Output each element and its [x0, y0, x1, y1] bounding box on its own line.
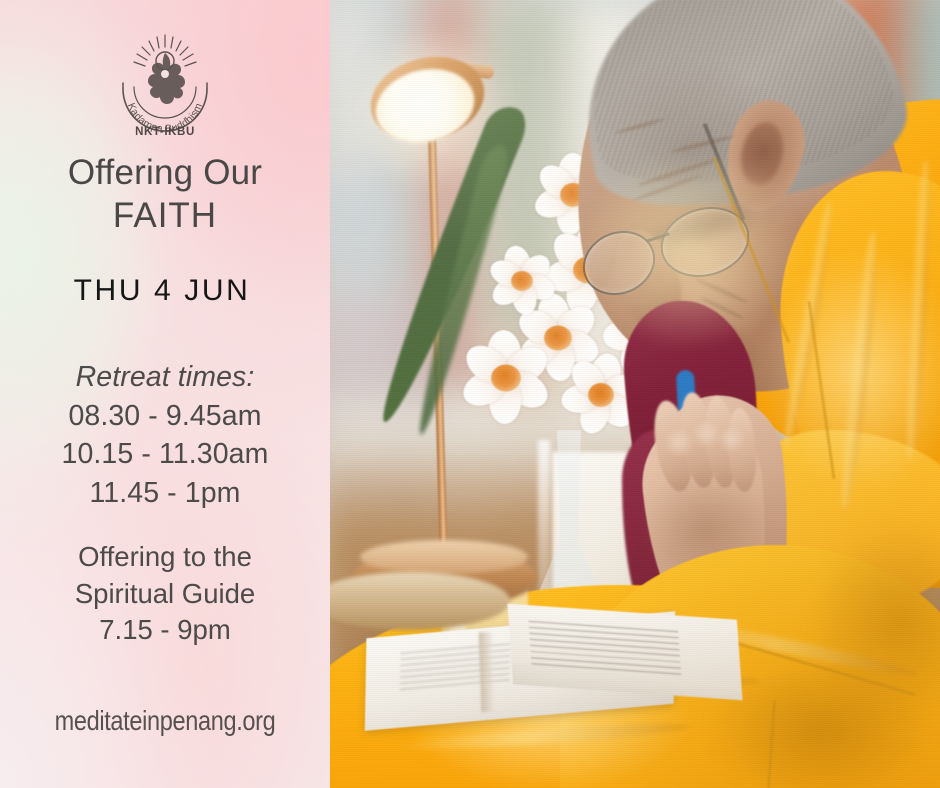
poster-canvas: Kadampa Buddhism NKT-IKBU Offering Our F… [0, 0, 940, 788]
website-url: meditateinpenang.org [26, 707, 303, 735]
retreat-times-label: Retreat times: [0, 358, 330, 397]
offering-line-1: Offering to the [0, 539, 330, 576]
title-line-2: FAITH [0, 195, 330, 238]
orchid-blossom [458, 330, 554, 426]
offering-block: Offering to the Spiritual Guide 7.15 - 9… [0, 539, 330, 649]
offering-line-2: Spiritual Guide [0, 576, 330, 613]
kadampa-buddhism-emblem-icon: Kadampa Buddhism NKT-IKBU [113, 31, 217, 139]
text-panel: Kadampa Buddhism NKT-IKBU Offering Our F… [0, 0, 330, 788]
offering-time: 7.15 - 9pm [0, 612, 330, 649]
crystal-vase-highlight [538, 440, 550, 610]
monk-praying-photograph [330, 0, 940, 788]
kadampa-buddhism-logo: Kadampa Buddhism NKT-IKBU [113, 31, 217, 139]
retreat-time-1: 08.30 - 9.45am [0, 397, 330, 436]
retreat-time-2: 10.15 - 11.30am [0, 435, 330, 474]
event-date: THU 4 JUN [0, 276, 330, 306]
prayer-text-spine [479, 632, 496, 712]
retreat-times-block: Retreat times: 08.30 - 9.45am 10.15 - 11… [0, 358, 330, 512]
orchid-blossom [486, 245, 558, 317]
page-title: Offering Our FAITH [0, 152, 330, 237]
lamp-base-top [360, 540, 528, 574]
retreat-time-3: 11.45 - 1pm [0, 474, 330, 513]
knuckle [716, 428, 746, 452]
logo-subtitle: NKT-IKBU [135, 126, 195, 138]
title-line-1: Offering Our [0, 152, 330, 195]
